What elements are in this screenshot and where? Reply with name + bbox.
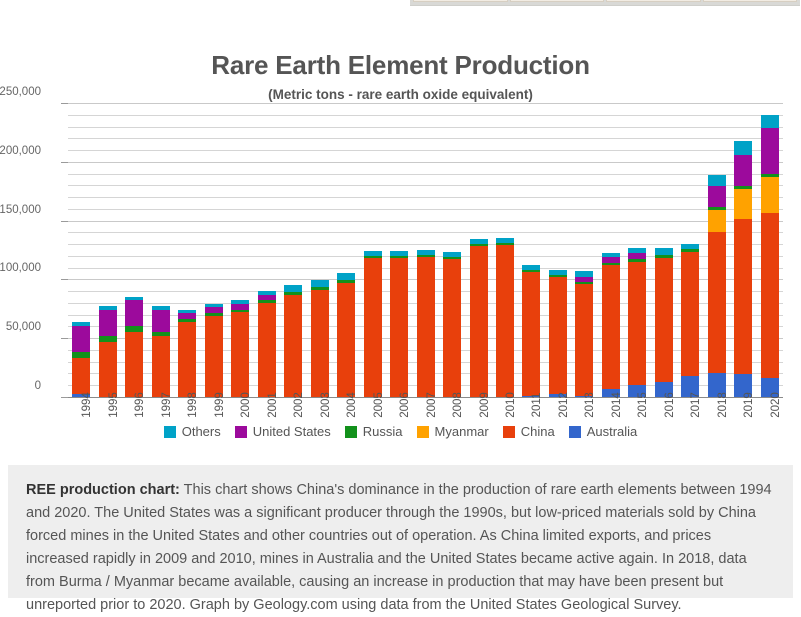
bar-segment-china[interactable] [205,316,223,398]
legend-label: Russia [363,424,403,439]
legend-swatch-icon [235,426,247,438]
bar-2018[interactable] [708,175,726,398]
x-tick-label: 1999 [214,392,226,418]
bar-slot [200,104,226,398]
bar-slot [651,104,677,398]
x-tick-label: 2016 [664,392,676,418]
y-tick-mark [61,279,68,280]
bar-segment-china[interactable] [628,262,646,385]
bar-slot [677,104,703,398]
bar-slot [598,104,624,398]
bar-2008[interactable] [443,252,461,398]
legend-swatch-icon [569,426,581,438]
legend-swatch-icon [345,426,357,438]
x-tick-label: 2010 [505,392,517,418]
bar-2005[interactable] [364,251,382,398]
bar-segment-china[interactable] [575,284,593,396]
y-tick-label: 150,000 [0,204,41,216]
x-tick-label: 2019 [743,392,755,418]
bar-segment-china[interactable] [549,277,567,395]
bar-segment-china[interactable] [231,312,249,398]
bar-2004[interactable] [337,273,355,398]
bar-segment-others[interactable] [311,280,329,287]
bar-segment-china[interactable] [311,290,329,398]
bar-slot [280,104,306,398]
bar-slot [147,104,173,398]
bar-segment-china[interactable] [522,272,540,395]
x-tick-label: 2011 [531,393,543,418]
x-tick-label: 1994 [81,392,93,418]
bar-segment-myanmar[interactable] [761,177,779,213]
bar-segment-china[interactable] [734,219,752,374]
legend-label: United States [253,424,331,439]
legend-item-united-states[interactable]: United States [235,424,331,439]
bar-segment-others[interactable] [708,175,726,186]
x-tick-label: 2015 [637,392,649,418]
x-tick-label: 2014 [611,392,623,418]
bar-1995[interactable] [99,306,117,398]
bar-segment-others[interactable] [337,273,355,280]
bar-1994[interactable] [72,322,90,398]
x-tick-label: 2018 [717,392,729,418]
bar-segment-china[interactable] [284,295,302,398]
bar-segment-china[interactable] [761,213,779,378]
bar-2009[interactable] [470,239,488,398]
x-tick-label: 1997 [161,392,173,418]
bar-group [68,104,783,398]
bar-slot [333,104,359,398]
x-tick-label: 2009 [479,392,491,418]
bar-segment-others[interactable] [655,248,673,255]
bar-2006[interactable] [390,251,408,398]
bar-slot [68,104,94,398]
toolbar-cell [703,0,798,2]
bar-2011[interactable] [522,265,540,398]
bar-segment-united-states[interactable] [734,155,752,186]
y-tick-mark [61,397,68,398]
bar-2010[interactable] [496,238,514,398]
bar-2020[interactable] [761,115,779,398]
bar-segment-united-states[interactable] [99,310,117,336]
bar-slot [439,104,465,398]
bar-segment-myanmar[interactable] [734,189,752,220]
bar-segment-china[interactable] [470,246,488,398]
bar-slot [306,104,332,398]
bar-slot [253,104,279,398]
bar-segment-china[interactable] [390,258,408,398]
x-tick-label: 2008 [452,392,464,418]
bar-segment-china[interactable] [655,258,673,381]
x-tick-label: 2000 [240,392,252,418]
x-tick-label: 1995 [108,392,120,418]
bar-segment-china[interactable] [364,258,382,398]
bar-slot [227,104,253,398]
x-tick-label: 2020 [770,392,782,418]
y-tick-label: 100,000 [0,262,41,274]
bar-slot [412,104,438,398]
bar-2015[interactable] [628,248,646,398]
y-tick-mark [61,162,68,163]
bar-segment-china[interactable] [258,303,276,398]
bar-segment-china[interactable] [99,342,117,398]
plot-area: 050,000100,000150,000200,000250,000 [68,104,783,398]
bar-segment-china[interactable] [417,257,435,398]
bar-2014[interactable] [602,253,620,398]
x-tick-label: 2003 [320,392,332,418]
bar-segment-china[interactable] [681,252,699,375]
x-tick-label: 2006 [399,392,411,418]
x-tick-label: 2017 [690,392,702,418]
legend-swatch-icon [503,426,515,438]
bar-1997[interactable] [152,306,170,398]
bar-segment-china[interactable] [72,358,90,394]
bar-1999[interactable] [205,304,223,398]
bar-1996[interactable] [125,297,143,398]
y-tick-label: 250,000 [0,86,41,98]
bar-segment-others[interactable] [734,141,752,155]
chart-title: Rare Earth Element Production [0,50,801,81]
x-tick-label: 1996 [134,392,146,418]
bar-2001[interactable] [258,291,276,398]
bar-segment-china[interactable] [602,265,620,388]
chart-legend: OthersUnited StatesRussiaMyanmarChinaAus… [0,424,801,439]
bar-segment-china[interactable] [152,336,170,398]
y-tick-mark [61,221,68,222]
bar-segment-china[interactable] [337,283,355,398]
y-tick-label: 50,000 [0,321,41,333]
y-tick-label: 200,000 [0,145,41,157]
bar-segment-united-states[interactable] [125,300,143,326]
chart-card: Rare Earth Element Production (Metric to… [0,24,801,466]
bar-segment-united-states[interactable] [761,128,779,174]
x-tick-label: 2004 [346,392,358,418]
legend-item-china[interactable]: China [503,424,555,439]
bar-2007[interactable] [417,250,435,398]
bar-segment-others[interactable] [761,115,779,128]
bar-slot [704,104,730,398]
bar-slot [465,104,491,398]
toolbar-cell [606,0,701,2]
legend-label: China [521,424,555,439]
bar-slot [359,104,385,398]
legend-label: Myanmar [435,424,489,439]
x-tick-label: 1998 [187,392,199,418]
bar-2016[interactable] [655,248,673,398]
bar-segment-others[interactable] [284,285,302,292]
bar-segment-china[interactable] [178,322,196,398]
bar-segment-china[interactable] [443,259,461,398]
x-tick-label: 2012 [558,392,570,418]
legend-label: Australia [587,424,638,439]
bar-2002[interactable] [284,285,302,398]
legend-label: Others [182,424,221,439]
x-tick-label: 2013 [584,392,596,418]
bar-slot [386,104,412,398]
bar-slot [571,104,597,398]
legend-item-others[interactable]: Others [164,424,221,439]
bar-segment-china[interactable] [496,245,514,398]
bar-slot [730,104,756,398]
bar-segment-china[interactable] [708,232,726,373]
legend-swatch-icon [417,426,429,438]
bar-segment-united-states[interactable] [708,186,726,207]
x-tick-label: 2005 [373,392,385,418]
bar-segment-myanmar[interactable] [708,210,726,232]
y-tick-label: 0 [0,380,41,392]
caption-lead: REE production chart: [26,482,180,498]
bar-slot [121,104,147,398]
bar-segment-united-states[interactable] [152,310,170,332]
toolbar-cell [413,0,508,2]
bar-slot [94,104,120,398]
bar-slot [757,104,783,398]
bar-slot [492,104,518,398]
legend-item-russia[interactable]: Russia [345,424,403,439]
legend-item-australia[interactable]: Australia [569,424,638,439]
bar-1998[interactable] [178,310,196,398]
bar-slot [545,104,571,398]
caption-body: This chart shows China's dominance in th… [26,482,772,613]
plot-wrapper: 050,000100,000150,000200,000250,000 1994… [0,100,801,440]
bar-segment-china[interactable] [125,332,143,398]
x-tick-label: 2007 [426,392,438,418]
bar-2017[interactable] [681,244,699,398]
bar-2013[interactable] [575,271,593,398]
x-tick-label: 2002 [293,392,305,418]
bar-2000[interactable] [231,300,249,398]
bar-slot [174,104,200,398]
chart-caption: REE production chart: This chart shows C… [8,465,793,598]
bar-2003[interactable] [311,280,329,398]
y-tick-mark [61,338,68,339]
bar-2012[interactable] [549,270,567,398]
bar-2019[interactable] [734,141,752,398]
bar-slot [518,104,544,398]
y-tick-mark [61,103,68,104]
legend-swatch-icon [164,426,176,438]
legend-item-myanmar[interactable]: Myanmar [417,424,489,439]
toolbar-cell [510,0,605,2]
bar-segment-united-states[interactable] [72,326,90,352]
x-tick-label: 2001 [267,392,279,418]
bar-slot [624,104,650,398]
cut-off-toolbar-fragment [410,0,800,6]
